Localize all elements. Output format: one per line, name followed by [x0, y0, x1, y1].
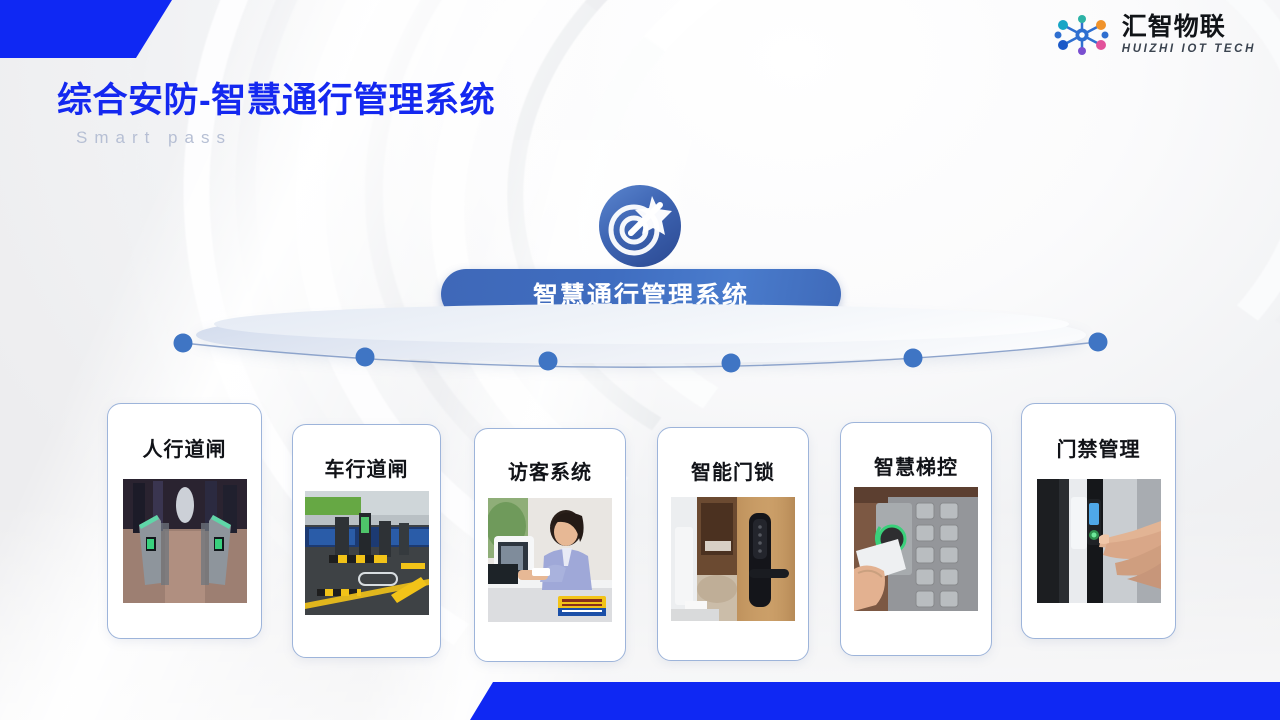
- connector-dot-6: [1089, 333, 1108, 352]
- elevator-card-access-photo: [854, 487, 978, 611]
- module-card-5[interactable]: 智慧梯控: [840, 422, 992, 656]
- module-card-title: 智慧梯控: [841, 451, 991, 480]
- module-card-title: 门禁管理: [1022, 433, 1175, 462]
- module-card-4[interactable]: 智能门锁: [657, 427, 809, 661]
- module-card-title: 智能门锁: [658, 456, 808, 485]
- pedestrian-speed-gate-photo: [123, 479, 247, 603]
- connector-dot-1: [174, 334, 193, 353]
- vehicle-barrier-gate-photo: [305, 491, 429, 615]
- module-card-3[interactable]: 访客系统: [474, 428, 626, 662]
- connector-curve: [183, 342, 1098, 367]
- module-card-6[interactable]: 门禁管理: [1021, 403, 1176, 639]
- connector-dot-4: [722, 354, 741, 373]
- module-card-1[interactable]: 人行道闸: [107, 403, 262, 639]
- connector-dot-5: [904, 349, 923, 368]
- module-card-title: 人行道闸: [108, 433, 261, 462]
- access-control-terminal-photo: [1037, 479, 1161, 603]
- module-card-title: 车行道闸: [293, 453, 440, 482]
- connector-dots: [174, 333, 1108, 373]
- slide-root: 综合安防-智慧通行管理系统 Smart pass 汇智物联: [0, 0, 1280, 720]
- module-card-title: 访客系统: [475, 456, 625, 485]
- connector-dot-2: [356, 348, 375, 367]
- module-card-2[interactable]: 车行道闸: [292, 424, 441, 658]
- connector-dot-3: [539, 352, 558, 371]
- smart-door-lock-photo: [671, 497, 795, 621]
- visitor-reception-photo: [488, 498, 612, 622]
